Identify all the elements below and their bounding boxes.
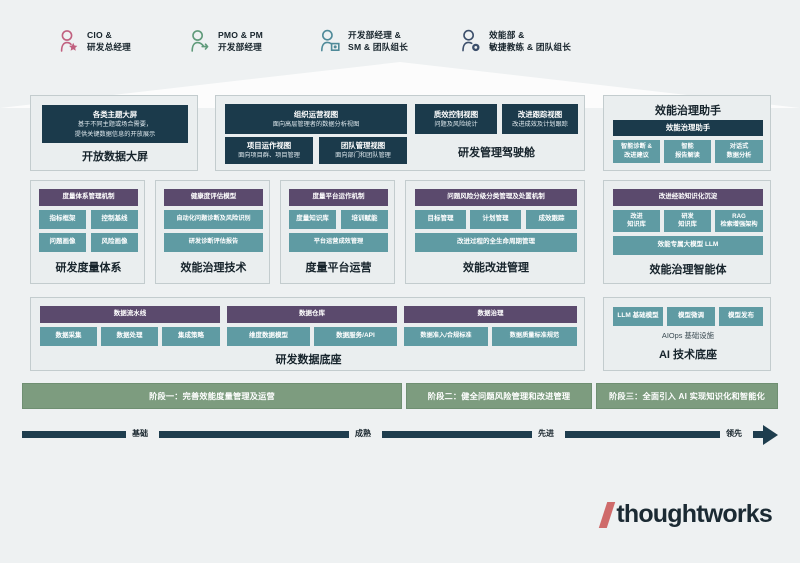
chip-improvement-kb: 改进 知识库: [613, 210, 660, 232]
chip-lifecycle-management: 改进过程的全生命周期管理: [415, 233, 577, 252]
persona-efficiency-dept: 效能部 & 敏捷教练 & 团队组长: [460, 18, 571, 64]
chip-dimensional-model: 维度数据模型: [227, 327, 310, 346]
panel-rd-measurement-system: 度量体系管理机制 指标框架 控制基线 问题画像 风险画像 研发度量体系: [30, 180, 145, 284]
header-measurement-mechanism: 度量体系管理机制: [39, 189, 138, 206]
panel-title: 效能治理智能体: [604, 261, 772, 277]
header-knowledge-precipitation: 改进经验知识化沉淀: [613, 189, 763, 206]
person-screen-icon: [319, 29, 341, 53]
phase-bar-3: 阶段三：全面引入 AI 实现知识化和智能化: [596, 383, 778, 409]
persona-label: CIO & 研发总经理: [87, 29, 131, 54]
thoughtworks-logo: thoughtworks: [603, 500, 772, 529]
maturity-arrow: 基础 成熟 先进 领先: [22, 424, 778, 446]
person-star-icon: [58, 29, 80, 53]
panel-title: 效能治理技术: [156, 259, 271, 275]
panel-ai-foundation: LLM 基础模型 模型微调 模型发布 AIOps 基础设施 AI 技术底座: [603, 297, 771, 371]
panel-governance-assistant: 效能治理助手 效能治理助手 智能诊断 & 改进建议 智能 报告解读 对话式 数据…: [603, 95, 771, 171]
persona-row: CIO & 研发总经理 PMO & PM 开发部经理: [0, 18, 800, 64]
chip-data-collection: 数据采集: [40, 327, 97, 346]
panel-title: 开放数据大屏: [31, 148, 199, 164]
header-data-warehouse: 数据仓库: [227, 306, 397, 323]
chip-control-baseline: 控制基线: [91, 210, 138, 229]
chip-model-release: 模型发布: [719, 307, 763, 326]
chip-platform-effectiveness: 平台运营成效管理: [289, 233, 388, 252]
panel-data-foundation: 数据流水线 数据采集 数据处理 集成策略 数据仓库 维度数据模型 数据服务/AP…: [30, 297, 585, 371]
persona-dev-manager: 开发部经理 & SM & 团队组长: [319, 18, 408, 64]
chip-plan-management: 计划管理: [470, 210, 521, 229]
chip-effect-tracking: 成效跟踪: [526, 210, 577, 229]
chip-diagnosis-report: 研发诊断评估报告: [164, 233, 263, 252]
card-quality-control-view: 质效控制视图 问题及风险统计: [415, 104, 497, 134]
panel-platform-operations: 度量平台运作机制 度量知识库 培训赋能 平台运营成效管理 度量平台运营: [280, 180, 395, 284]
chip-training-enablement: 培训赋能: [341, 210, 388, 229]
panel-title: 效能治理助手: [604, 102, 772, 118]
panel-governance-technology: 健康度评估模型 自动化问题诊断及风险识别 研发诊断评估报告 效能治理技术: [155, 180, 270, 284]
card-improvement-tracking-view: 改进跟踪视图 改进成效及计划跟踪: [502, 104, 578, 134]
persona-label: 效能部 & 敏捷教练 & 团队组长: [489, 29, 571, 54]
chip-domain-llm: 效能专属大模型 LLM: [613, 236, 763, 255]
header-data-governance: 数据治理: [404, 306, 577, 323]
chip-data-service-api: 数据服务/API: [314, 327, 397, 346]
persona-pmo: PMO & PM 开发部经理: [189, 18, 263, 64]
card-team-management-view: 团队管理视图 面向部门和团队管理: [319, 137, 407, 164]
chip-data-processing: 数据处理: [101, 327, 158, 346]
chip-indicator-framework: 指标框架: [39, 210, 86, 229]
bar-governance-assistant: 效能治理助手: [613, 120, 763, 136]
chip-smart-report: 智能 报告解读: [664, 140, 711, 163]
chip-rd-kb: 研发 知识库: [664, 210, 711, 232]
panel-improvement-management: 问题风险分级分类管理及处置机制 目标管理 计划管理 成效跟踪 改进过程的全生命周…: [405, 180, 585, 284]
panel-governance-agent: 改进经验知识化沉淀 改进 知识库 研发 知识库 RAG 检索增强架构 效能专属大…: [603, 180, 771, 284]
maturity-label-basic: 基础: [132, 428, 148, 439]
chip-goal-management: 目标管理: [415, 210, 466, 229]
chip-smart-diagnosis: 智能诊断 & 改进建议: [613, 140, 660, 163]
chip-model-finetune: 模型微调: [667, 307, 715, 326]
chip-auto-diagnosis: 自动化问题诊断及风险识别: [164, 210, 263, 229]
card-theme-dashboards: 各类主题大屏 基于不同主题或场合需要， 提供关键数据信息的开放展示: [42, 105, 188, 143]
ai-foundation-subtitle: AIOps 基础设施: [604, 330, 772, 341]
panel-title: 度量平台运营: [281, 259, 396, 275]
header-health-model: 健康度评估模型: [164, 189, 263, 206]
brand-wordmark: thoughtworks: [616, 500, 772, 529]
panel-title: 研发管理驾驶舱: [415, 144, 578, 160]
panel-open-data-dashboard: 各类主题大屏 基于不同主题或场合需要， 提供关键数据信息的开放展示 开放数据大屏: [30, 95, 198, 171]
phase-bar-2: 阶段二：健全问题风险管理和改进管理: [406, 383, 592, 409]
chip-risk-profile: 风险画像: [91, 233, 138, 252]
maturity-label-leading: 领先: [726, 428, 742, 439]
chip-llm-base-model: LLM 基础模型: [613, 307, 663, 326]
chip-integration-strategy: 集成策略: [162, 327, 220, 346]
panel-rd-cockpit: 组织运营视图 面向高层管理者的数据分析视图 质效控制视图 问题及风险统计 改进跟…: [215, 95, 585, 171]
persona-label: PMO & PM 开发部经理: [218, 29, 263, 54]
panel-title: 效能改进管理: [406, 259, 586, 275]
persona-cio: CIO & 研发总经理: [58, 18, 131, 64]
header-data-pipeline: 数据流水线: [40, 306, 220, 323]
chip-rag-architecture: RAG 检索增强架构: [715, 210, 763, 232]
chip-knowledge-base: 度量知识库: [289, 210, 336, 229]
header-risk-classification: 问题风险分级分类管理及处置机制: [415, 189, 577, 206]
card-org-operations-view: 组织运营视图 面向高层管理者的数据分析视图: [225, 104, 407, 134]
persona-label: 开发部经理 & SM & 团队组长: [348, 29, 408, 54]
panel-title: 研发度量体系: [31, 259, 146, 275]
person-gear-icon: [460, 29, 482, 53]
header-platform-mechanism: 度量平台运作机制: [289, 189, 388, 206]
chip-conversational-analysis: 对话式 数据分析: [715, 140, 763, 163]
card-project-operation-view: 项目运作视图 面向项目群、项目管理: [225, 137, 313, 164]
person-arrow-icon: [189, 29, 211, 53]
phase-bar-1: 阶段一：完善效能度量管理及运营: [22, 383, 402, 409]
maturity-label-advanced: 先进: [538, 428, 554, 439]
slide-canvas: CIO & 研发总经理 PMO & PM 开发部经理: [0, 0, 800, 563]
maturity-label-mature: 成熟: [355, 428, 371, 439]
chip-issue-profile: 问题画像: [39, 233, 86, 252]
panel-title: 研发数据底座: [31, 351, 586, 367]
chip-data-quality-standard: 数据质量标准规范: [492, 327, 577, 346]
chip-data-admission-standard: 数据准入/合规标准: [404, 327, 488, 346]
panel-title: AI 技术底座: [604, 346, 772, 362]
